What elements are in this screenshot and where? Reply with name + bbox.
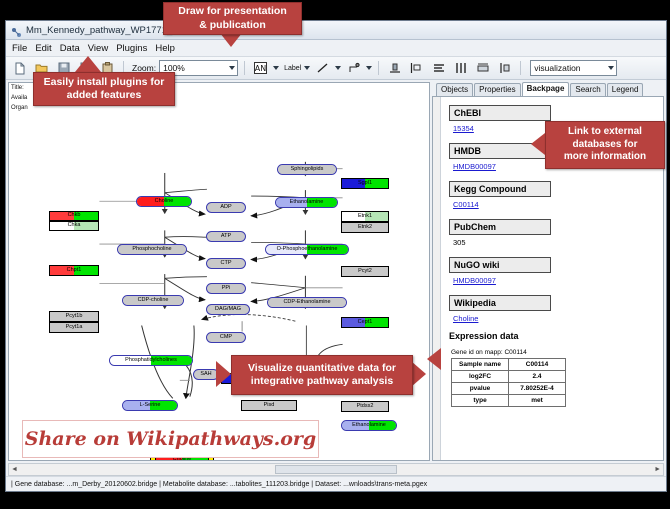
callout-visualize-quantitative-data: Visualize quantitative data for integrat… xyxy=(231,355,413,395)
side-panel-scrollbar[interactable] xyxy=(433,97,441,460)
status-bar: | Gene database: ...m_Derby_20120602.bri… xyxy=(6,476,666,491)
line-dropdown-icon[interactable] xyxy=(335,66,341,70)
callout-line-1: Easily install plugins for xyxy=(44,76,165,89)
pathway-node-cept1[interactable]: Cept1 xyxy=(341,317,389,328)
pathway-node-chkb[interactable]: Chkb xyxy=(49,211,99,221)
node-label: PPi xyxy=(222,286,231,292)
pathway-node-ppi[interactable]: PPi xyxy=(206,283,246,294)
node-label: Ethanolamine xyxy=(290,200,324,206)
callout-pointer-left xyxy=(531,133,545,155)
node-label: Chkb xyxy=(68,213,81,219)
pathway-node-phosphatidylcholines[interactable]: Phosphatidylcholines xyxy=(109,355,193,366)
align-left-tool-icon[interactable] xyxy=(407,59,426,78)
callout-line-3: more information xyxy=(564,151,646,164)
node-label: Phosphatidylcholines xyxy=(125,358,177,364)
pathway-node-chka[interactable]: Chka xyxy=(49,221,99,231)
pathway-node-chpt1[interactable]: Chpt1 xyxy=(49,265,99,276)
side-panel-tabs: Objects Properties Backpage Search Legen… xyxy=(432,82,664,96)
db-link-wikipedia[interactable]: Choline xyxy=(453,314,657,323)
node-label: Etnk2 xyxy=(358,225,372,231)
pathway-canvas[interactable]: Title: Availa Organ xyxy=(9,83,429,460)
callout-draw-for-presentation: Draw for presentation & publication xyxy=(163,2,302,35)
callout-line-2: & publication xyxy=(199,19,266,32)
pathway-node-o-phosphoethanolamine[interactable]: O-Phosphoethanolamine xyxy=(265,244,349,255)
pathway-node-phosphocholine[interactable]: Phosphocholine xyxy=(117,244,187,255)
tab-backpage[interactable]: Backpage xyxy=(522,82,570,96)
distribute-vertical-tool-icon[interactable] xyxy=(429,59,448,78)
pathway-node-ethanolamine-right[interactable]: Ethanolamine xyxy=(341,420,397,431)
callout-share-on-wikipathways: Share on Wikipathways.org xyxy=(22,420,319,458)
pathway-node-sphingolipids[interactable]: Sphingolipids xyxy=(277,164,337,175)
chevron-down-icon xyxy=(608,66,614,70)
db-header-chebi: ChEBI xyxy=(449,105,551,121)
distribute-horizontal-tool-icon[interactable] xyxy=(451,59,470,78)
node-label: Ethanolamine xyxy=(352,423,386,429)
node-label: Choline xyxy=(155,199,174,205)
gene-id-on-mapp: Gene id on mapp: C00114 xyxy=(451,349,657,356)
db-header-pubchem: PubChem xyxy=(449,219,551,235)
db-header-kegg-compound: Kegg Compound xyxy=(449,181,551,197)
pathway-node-cmp[interactable]: CMP xyxy=(206,332,246,343)
menu-plugins[interactable]: Plugins xyxy=(116,43,147,54)
pathway-node-cdp-choline[interactable]: CDP-choline xyxy=(122,295,184,306)
toolbar-separator-2 xyxy=(244,61,245,75)
pathway-node-ctp[interactable]: CTP xyxy=(206,258,246,269)
title-bar: Mm_Kennedy_pathway_WP1771_45176.gpml xyxy=(6,21,666,40)
node-label: Pcyt1b xyxy=(66,314,83,320)
tab-objects[interactable]: Objects xyxy=(436,83,473,96)
row-value: C00114 xyxy=(509,359,566,371)
pathway-node-atp[interactable]: ATP xyxy=(206,231,246,242)
callout-link-to-external-databases: Link to external databases for more info… xyxy=(545,121,665,169)
expression-data-title: Expression data xyxy=(449,331,657,341)
toolbar-separator-4 xyxy=(520,61,521,75)
new-file-icon[interactable] xyxy=(10,59,29,78)
callout-pointer-right xyxy=(411,361,426,387)
status-text: | Gene database: ...m_Derby_20120602.bri… xyxy=(11,481,427,488)
node-label: Ptdss2 xyxy=(357,404,374,410)
menu-edit[interactable]: Edit xyxy=(35,43,51,54)
row-key: pvalue xyxy=(452,383,509,395)
scroll-left-arrow-icon[interactable]: ◄ xyxy=(9,466,20,473)
visualization-combobox[interactable]: visualization xyxy=(530,60,617,76)
node-label: ATP xyxy=(221,234,231,240)
align-bottom-tool-icon[interactable] xyxy=(385,59,404,78)
share-text: Share on Wikipathways.org xyxy=(25,428,316,450)
node-label: CMP xyxy=(220,335,232,341)
node-label: SAH xyxy=(200,372,211,378)
node-label: Sgpl1 xyxy=(358,181,372,187)
callout-easily-install-plugins: Easily install plugins for added feature… xyxy=(33,72,175,106)
node-label: ADP xyxy=(220,205,231,211)
node-label: Cept1 xyxy=(358,320,373,326)
callout-line-2: databases for xyxy=(572,139,637,152)
node-label: O-Phosphoethanolamine xyxy=(277,247,338,253)
pathway-node-adp[interactable]: ADP xyxy=(206,202,246,213)
tab-legend[interactable]: Legend xyxy=(607,83,644,96)
db-link-nugo-wiki[interactable]: HMDB00097 xyxy=(453,276,657,285)
text-label-dropdown-icon[interactable] xyxy=(273,66,279,70)
node-label: CDP-choline xyxy=(138,298,169,304)
node-label: Etnk1 xyxy=(358,214,372,220)
callout-line-2: integrative pathway analysis xyxy=(251,375,393,388)
connector-tool-icon[interactable] xyxy=(344,59,363,78)
pathway-node-sgpl1[interactable]: Sgpl1 xyxy=(341,178,389,189)
node-label: Sphingolipids xyxy=(291,167,324,173)
chevron-down-icon xyxy=(229,66,235,70)
pathway-node-cdp-ethanolamine[interactable]: CDP-Ethanolamine xyxy=(267,297,347,308)
toolbar-separator-3 xyxy=(378,61,379,75)
row-key: type xyxy=(452,395,509,407)
tab-properties[interactable]: Properties xyxy=(474,83,520,96)
pathway-node-choline-top[interactable]: Choline xyxy=(136,196,192,207)
menu-help[interactable]: Help xyxy=(155,43,175,54)
table-row: Sample name C00114 xyxy=(452,359,566,371)
menu-view[interactable]: View xyxy=(88,43,108,54)
connector-dropdown-icon[interactable] xyxy=(366,66,372,70)
node-label: Chka xyxy=(68,223,81,229)
text-label-tool-icon[interactable]: AN xyxy=(251,59,270,78)
menu-file[interactable]: File xyxy=(12,43,27,54)
pathway-node-dagmag[interactable]: DAG/MAG xyxy=(206,304,250,315)
node-label: L-Serine xyxy=(140,403,161,409)
db-header-wikipedia: Wikipedia xyxy=(449,295,551,311)
node-label: Pisd xyxy=(264,403,275,409)
callout-line-1: Draw for presentation xyxy=(178,5,287,18)
callout-pointer-up xyxy=(75,56,101,72)
row-value: met xyxy=(509,395,566,407)
row-value: 2.4 xyxy=(509,371,566,383)
callout-line-1: Visualize quantitative data for xyxy=(248,362,396,375)
pathway-node-etnk1[interactable]: Etnk1 xyxy=(341,211,389,222)
menu-bar: File Edit Data View Plugins Help xyxy=(6,40,666,57)
pathway-node-ethanolamine-top[interactable]: Ethanolamine xyxy=(275,197,338,208)
node-label: CTP xyxy=(221,261,232,267)
db-header-nugo-wiki: NuGO wiki xyxy=(449,257,551,273)
pathway-node-etnk2[interactable]: Etnk2 xyxy=(341,222,389,233)
visualization-value: visualization xyxy=(534,63,580,73)
callout-pointer-right-left-end xyxy=(216,361,231,387)
group-tool-icon[interactable] xyxy=(473,59,492,78)
line-tool-icon[interactable] xyxy=(313,59,332,78)
label-dropdown-icon[interactable] xyxy=(304,66,310,70)
svg-text:AN: AN xyxy=(255,64,266,73)
table-row: pvalue 7.80252E-4 xyxy=(452,383,566,395)
callout-line-1: Link to external xyxy=(568,126,642,139)
scroll-right-arrow-icon[interactable]: ► xyxy=(652,466,663,473)
tab-search[interactable]: Search xyxy=(570,83,605,96)
expression-data-table: Sample name C00114 log2FC 2.4 pvalue 7.8… xyxy=(451,358,566,407)
node-label: Pcyt1a xyxy=(66,325,83,331)
order-tool-icon[interactable] xyxy=(495,59,514,78)
pathway-canvas-panel[interactable]: Title: Availa Organ xyxy=(8,82,430,461)
pathway-node-pcyt1a[interactable]: Pcyt1a xyxy=(49,322,99,333)
pathvisio-icon xyxy=(11,25,22,36)
pathway-node-pisd[interactable]: Pisd xyxy=(241,400,297,411)
pathway-node-pcyt1b[interactable]: Pcyt1b xyxy=(49,311,99,322)
node-label: Pcyt2 xyxy=(358,269,372,275)
node-label: Chpt1 xyxy=(67,268,82,274)
pathway-node-l-serine-left[interactable]: L-Serine xyxy=(122,400,178,411)
row-key: log2FC xyxy=(452,371,509,383)
pathway-node-pcyt2[interactable]: Pcyt2 xyxy=(341,266,389,277)
callout-pointer-down xyxy=(220,33,242,47)
scrollbar-thumb[interactable] xyxy=(275,465,397,474)
row-key: Sample name xyxy=(452,359,509,371)
label-tool-label: Label xyxy=(284,65,301,72)
callout-line-2: added features xyxy=(67,89,142,102)
menu-data[interactable]: Data xyxy=(60,43,80,54)
node-label: DAG/MAG xyxy=(215,307,241,313)
table-row: log2FC 2.4 xyxy=(452,371,566,383)
canvas-horizontal-scrollbar[interactable]: ◄ ► xyxy=(8,463,664,476)
row-value: 7.80252E-4 xyxy=(509,383,566,395)
pathway-node-ptdss2[interactable]: Ptdss2 xyxy=(341,401,389,412)
db-value-pubchem: 305 xyxy=(453,238,657,247)
node-label: CDP-Ethanolamine xyxy=(283,300,330,306)
table-row: type met xyxy=(452,395,566,407)
callout-pointer-left-expression xyxy=(427,348,441,370)
node-label: Phosphocholine xyxy=(132,247,171,253)
db-link-kegg-compound[interactable]: C00114 xyxy=(453,200,657,209)
